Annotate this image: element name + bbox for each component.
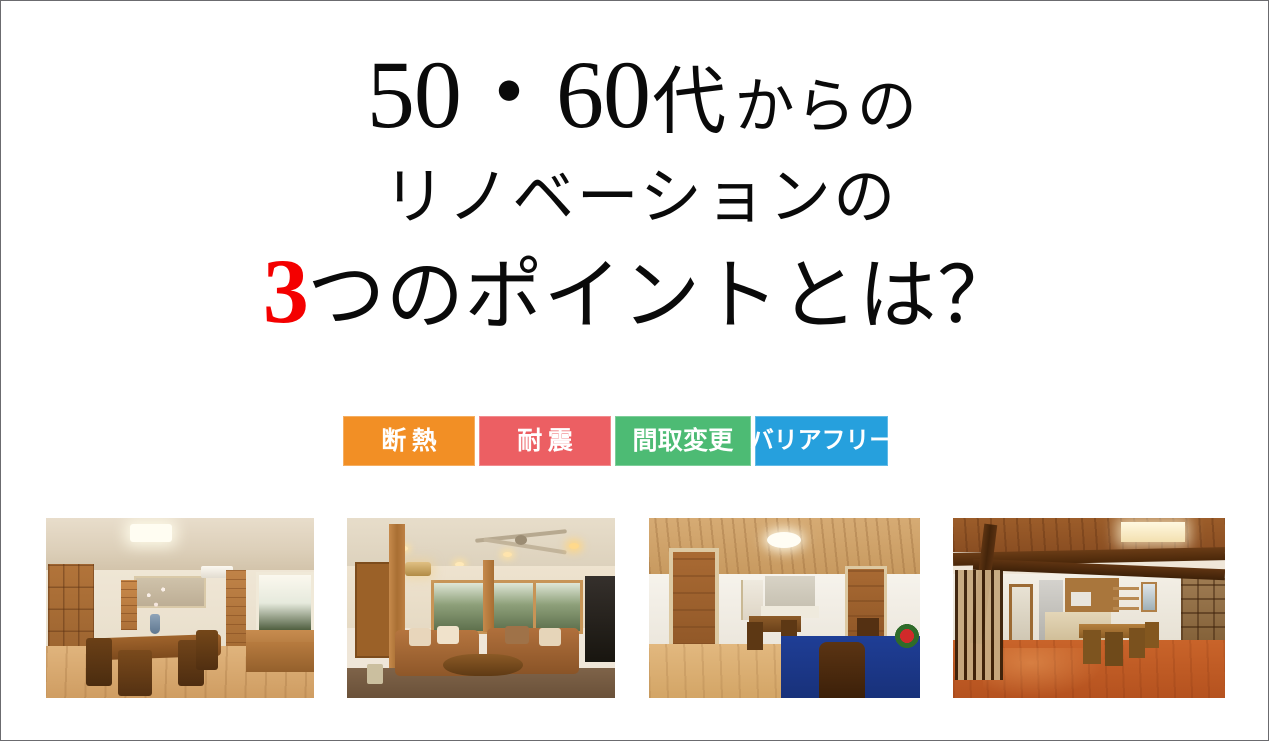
display-cabinet [355,562,391,658]
headline-line-2: リノベーションの [1,167,1269,239]
page-root: 50・60代からの リノベーションの 3つのポイントとは？ 断熱 耐震 間取変更… [0,0,1269,741]
cabinet [246,642,314,672]
headline-point-count: 3 [263,240,307,342]
page-title: 50・60代からの リノベーションの 3つのポイントとは？ [1,47,1269,339]
poinsettia-plant [895,624,919,648]
tag-barrier-free[interactable]: バリアフリー [755,416,888,466]
coffee-table [443,654,523,676]
photo-gallery [46,518,1225,698]
dining-chair [1145,622,1159,648]
cushion [539,628,561,646]
wooden-chair [819,642,865,698]
photo-wood-ceiling-room[interactable] [649,518,920,698]
small-window [1141,582,1157,612]
wooden-door-middle [121,580,137,630]
dining-chair [747,622,763,650]
microwave [1071,592,1091,606]
headline-line-1-suffix: からの [727,74,919,140]
tag-seismic[interactable]: 耐震 [479,416,611,466]
vase [150,614,160,634]
feature-tag-strip: 断熱 耐震 間取変更 バリアフリー [343,416,888,466]
cushion [505,626,529,644]
window [256,572,314,634]
photo-living-room[interactable] [347,518,615,698]
open-shelf [1113,584,1139,610]
ceiling-light-icon [767,532,801,548]
dining-chair [1083,630,1101,664]
ceiling [46,518,314,570]
pendant-light-icon [405,562,431,576]
tag-layout-change[interactable]: 間取変更 [615,416,751,466]
tag-insulation[interactable]: 断熱 [343,416,475,466]
flower-branch [138,580,174,618]
photo-kitchen-dining[interactable] [953,518,1225,698]
headline-age-unit: 代 [650,62,726,144]
dining-chair [196,630,218,670]
dining-chair [1105,632,1123,666]
wooden-lattice-screen [955,570,1003,680]
headline-line-1: 50・60代からの [1,47,1269,151]
cushion [409,628,431,646]
television [585,576,615,662]
ceiling-light-icon [1121,522,1185,542]
wooden-door-right [226,570,246,652]
headline-line-3-rest: つのポイントとは？ [307,252,1016,339]
headline-line-3: 3つのポイントとは？ [1,245,1269,339]
wooden-post [483,560,494,632]
wall-shelf [741,580,763,620]
window-mullion [533,580,536,634]
waste-basket [367,664,383,684]
ceiling-light-icon [130,524,172,542]
dining-chair [1129,628,1145,658]
cushion [437,626,459,644]
dining-chair [118,650,152,696]
headline-age-number: 50・60 [367,41,650,148]
dining-chair [86,638,112,686]
far-door [1009,584,1033,646]
photo-dining-room[interactable] [46,518,314,698]
